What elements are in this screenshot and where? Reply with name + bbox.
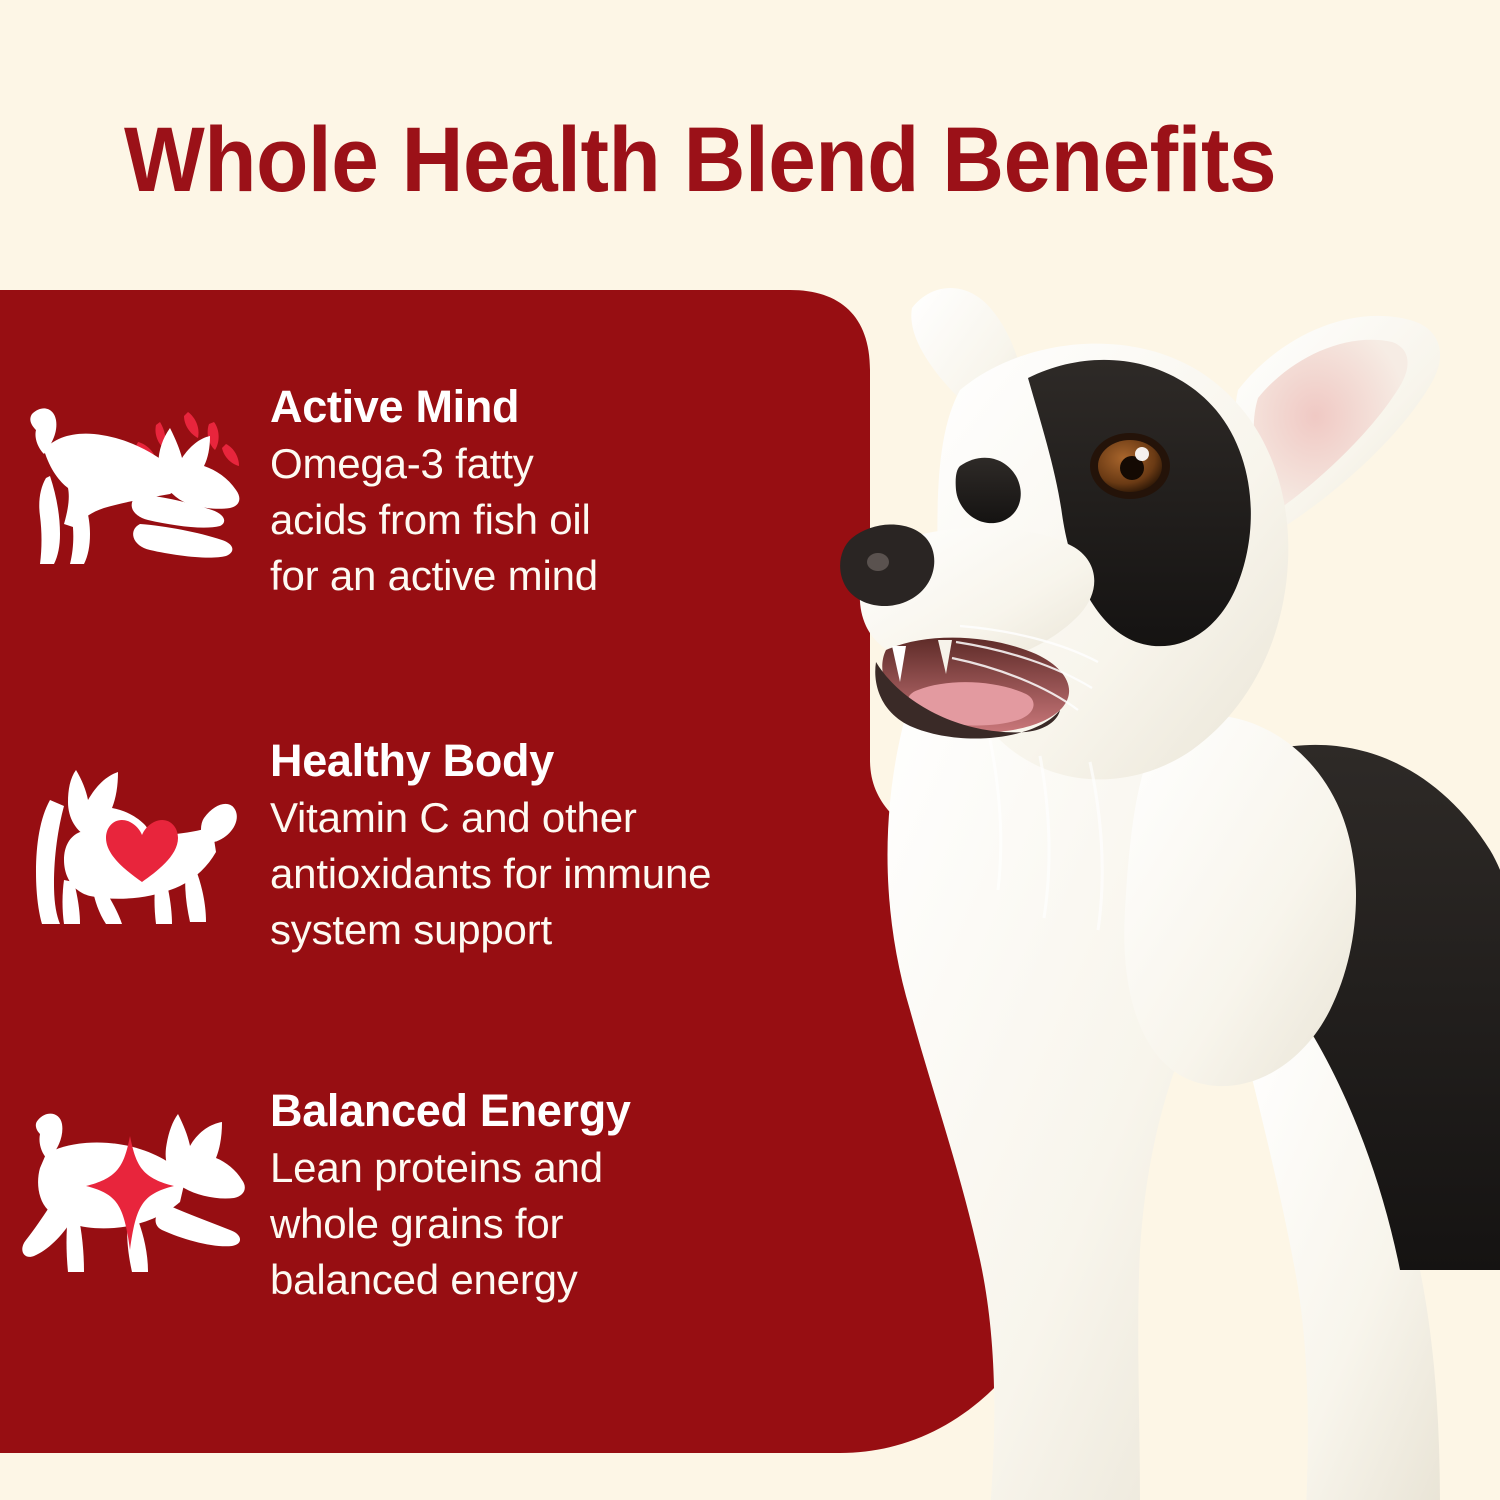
- benefit-item-healthy-body: Healthy Body Vitamin C and other antioxi…: [0, 730, 1000, 958]
- benefit-heading: Balanced Energy: [270, 1084, 631, 1138]
- benefit-text-balanced-energy: Balanced Energy Lean proteins and whole …: [270, 1080, 631, 1308]
- benefit-item-active-mind: Active Mind Omega-3 fatty acids from fis…: [0, 376, 1000, 604]
- dog-standing-heart-icon: [0, 730, 270, 950]
- benefit-body: Vitamin C and other antioxidants for imm…: [270, 790, 711, 958]
- benefit-body: Lean proteins and whole grains for balan…: [270, 1140, 631, 1308]
- benefit-text-active-mind: Active Mind Omega-3 fatty acids from fis…: [270, 376, 598, 604]
- benefits-infographic: Whole Health Blend Benefits: [0, 0, 1500, 1500]
- benefit-body: Omega-3 fatty acids from fish oil for an…: [270, 436, 598, 604]
- benefit-heading: Active Mind: [270, 380, 598, 434]
- benefit-heading: Healthy Body: [270, 734, 711, 788]
- benefit-text-healthy-body: Healthy Body Vitamin C and other antioxi…: [270, 730, 711, 958]
- dog-play-bow-sparks-icon: [0, 376, 270, 596]
- benefits-list: Active Mind Omega-3 fatty acids from fis…: [0, 290, 1080, 1453]
- dog-running-sparkle-icon: [0, 1080, 270, 1300]
- page-title: Whole Health Blend Benefits: [124, 112, 1287, 208]
- benefit-item-balanced-energy: Balanced Energy Lean proteins and whole …: [0, 1080, 1000, 1308]
